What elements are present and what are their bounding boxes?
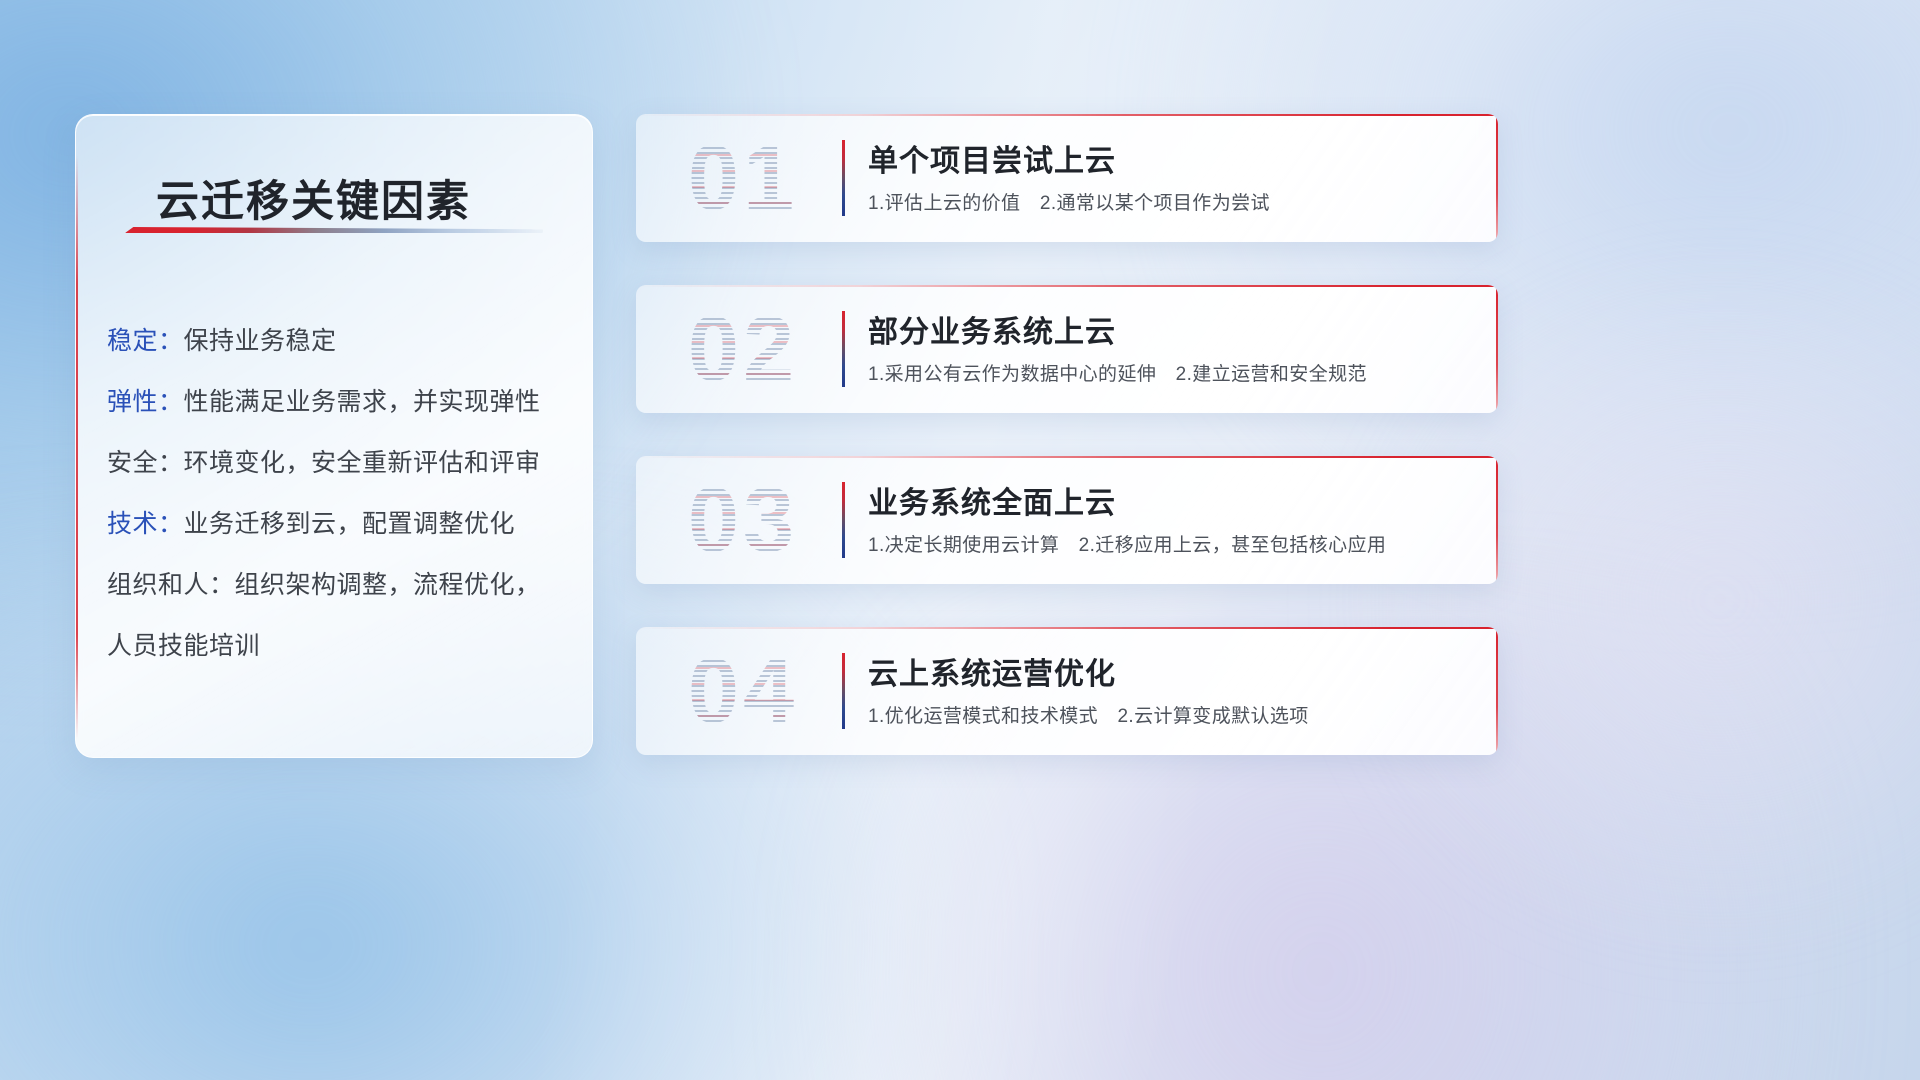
step-divider-bar xyxy=(842,140,845,216)
list-item: 安全：环境变化，安全重新评估和评审 xyxy=(107,433,572,494)
list-item-value: 组织架构调整，流程优化， xyxy=(235,571,541,599)
step-description: 1.采用公有云作为数据中心的延伸 2.建立运营和安全规范 xyxy=(868,359,1367,386)
step-divider-bar xyxy=(842,311,845,387)
step-number-watermark: 03 xyxy=(658,464,828,576)
step-card-01[interactable]: 01 01 单个项目尝试上云 1.评估上云的价值 2.通常以某个项目作为尝试 xyxy=(636,114,1498,242)
step-number-watermark: 04 xyxy=(658,635,828,747)
list-item-value: 业务迁移到云，配置调整优化 xyxy=(184,510,516,538)
step-card-04[interactable]: 04 04 云上系统运营优化 1.优化运营模式和技术模式 2.云计算变成默认选项 xyxy=(636,627,1498,755)
step-divider-bar xyxy=(842,482,845,558)
step-title: 部分业务系统上云 xyxy=(868,307,1116,351)
step-description: 1.评估上云的价值 2.通常以某个项目作为尝试 xyxy=(868,188,1270,215)
step-description: 1.优化运营模式和技术模式 2.云计算变成默认选项 xyxy=(868,701,1309,728)
key-factors-panel: 云迁移关键因素 稳定：保持业务稳定 弹性：性能满足业务需求，并实现弹性 安全：环… xyxy=(75,114,593,758)
migration-steps-list: 01 01 单个项目尝试上云 1.评估上云的价值 2.通常以某个项目作为尝试 0… xyxy=(636,114,1498,798)
list-item-value: 性能满足业务需求，并实现弹性 xyxy=(184,388,541,416)
step-number-watermark: 01 xyxy=(658,122,828,234)
step-divider-bar xyxy=(842,653,845,729)
page-title: 云迁移关键因素 xyxy=(156,167,471,229)
list-item-value: 人员技能培训 xyxy=(107,632,260,660)
step-card-03[interactable]: 03 03 业务系统全面上云 1.决定长期使用云计算 2.迁移应用上云，甚至包括… xyxy=(636,456,1498,584)
step-number-watermark: 02 xyxy=(658,293,828,405)
list-item-key: 组织和人： xyxy=(107,571,235,599)
list-item: 技术：业务迁移到云，配置调整优化 xyxy=(107,494,572,555)
list-item: 弹性：性能满足业务需求，并实现弹性 xyxy=(107,372,572,433)
list-item: 人员技能培训 xyxy=(107,616,572,677)
step-title: 业务系统全面上云 xyxy=(868,478,1116,522)
list-item-key: 技术： xyxy=(107,510,184,538)
list-item: 组织和人：组织架构调整，流程优化， xyxy=(107,555,572,616)
step-title: 云上系统运营优化 xyxy=(868,649,1116,693)
step-title: 单个项目尝试上云 xyxy=(868,136,1116,180)
list-item-key: 稳定： xyxy=(107,327,184,355)
step-description: 1.决定长期使用云计算 2.迁移应用上云，甚至包括核心应用 xyxy=(868,530,1386,557)
step-card-02[interactable]: 02 02 部分业务系统上云 1.采用公有云作为数据中心的延伸 2.建立运营和安… xyxy=(636,285,1498,413)
key-factors-list: 稳定：保持业务稳定 弹性：性能满足业务需求，并实现弹性 安全：环境变化，安全重新… xyxy=(107,311,572,677)
list-item: 稳定：保持业务稳定 xyxy=(107,311,572,372)
list-item-value: 环境变化，安全重新评估和评审 xyxy=(184,449,541,477)
list-item-key: 弹性： xyxy=(107,388,184,416)
list-item-key: 安全： xyxy=(107,449,184,477)
list-item-value: 保持业务稳定 xyxy=(184,327,337,355)
